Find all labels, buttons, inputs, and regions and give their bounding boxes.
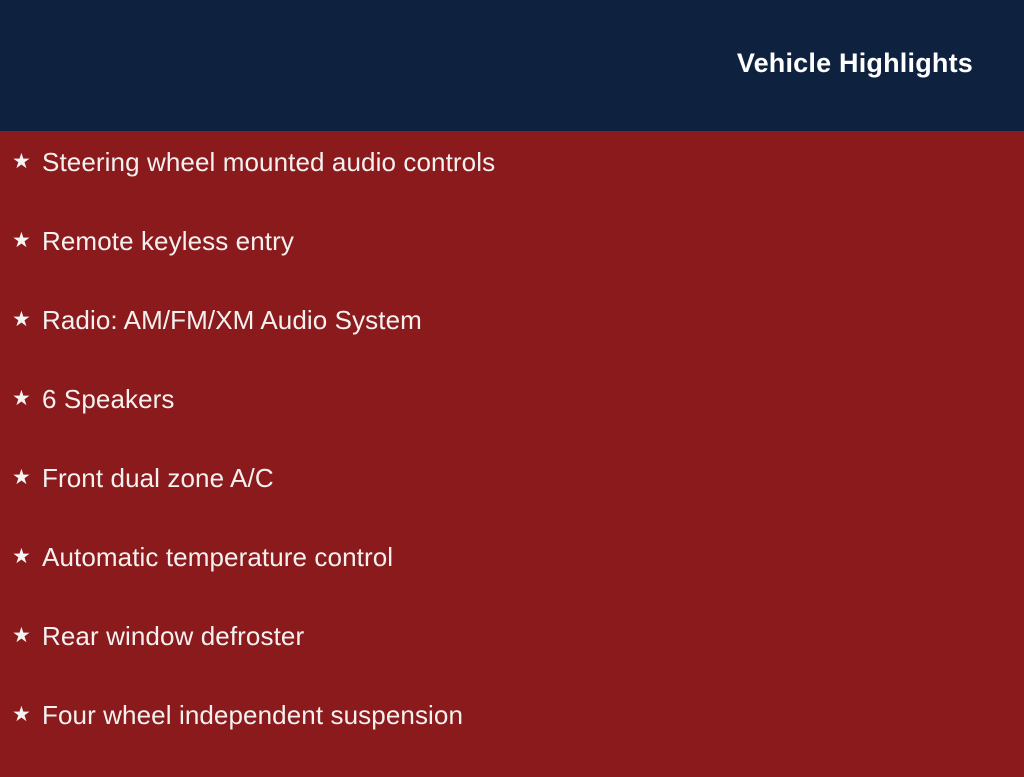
list-item-label: Steering wheel mounted audio controls <box>42 145 1024 179</box>
star-bullet-icon: ★ <box>12 461 42 495</box>
list-item: ★6 Speakers <box>12 382 1024 461</box>
list-item: ★Four wheel independent suspension <box>12 698 1024 777</box>
slide-header: Vehicle Highlights <box>0 0 1024 131</box>
list-item-label: Automatic temperature control <box>42 540 1024 574</box>
list-item-label: Front dual zone A/C <box>42 461 1024 495</box>
list-item: ★Rear window defroster <box>12 619 1024 698</box>
list-item: ★Front dual zone A/C <box>12 461 1024 540</box>
slide-body: ★Steering wheel mounted audio controls★R… <box>0 131 1024 768</box>
list-item: ★Automatic temperature control <box>12 540 1024 619</box>
star-bullet-icon: ★ <box>12 145 42 179</box>
list-item: ★Steering wheel mounted audio controls <box>12 145 1024 224</box>
list-item-label: Remote keyless entry <box>42 224 1024 258</box>
star-bullet-icon: ★ <box>12 303 42 337</box>
star-bullet-icon: ★ <box>12 224 42 258</box>
page-title: Vehicle Highlights <box>737 47 973 79</box>
vehicle-highlights-list: ★Steering wheel mounted audio controls★R… <box>12 145 1024 777</box>
star-bullet-icon: ★ <box>12 382 42 416</box>
list-item-label: Four wheel independent suspension <box>42 698 1024 732</box>
slide: Vehicle Highlights ★Steering wheel mount… <box>0 0 1024 768</box>
star-bullet-icon: ★ <box>12 619 42 653</box>
list-item-label: Rear window defroster <box>42 619 1024 653</box>
list-item-label: 6 Speakers <box>42 382 1024 416</box>
star-bullet-icon: ★ <box>12 698 42 732</box>
list-item: ★Radio: AM/FM/XM Audio System <box>12 303 1024 382</box>
list-item: ★Remote keyless entry <box>12 224 1024 303</box>
list-item-label: Radio: AM/FM/XM Audio System <box>42 303 1024 337</box>
star-bullet-icon: ★ <box>12 540 42 574</box>
